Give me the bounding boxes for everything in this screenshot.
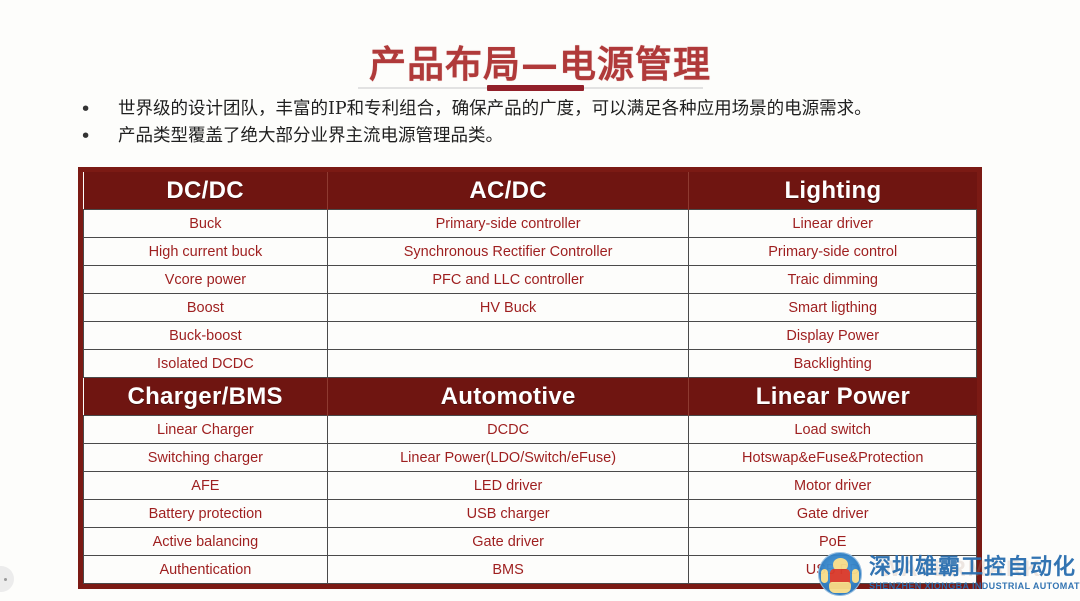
cell: HV Buck (327, 294, 689, 322)
table-row: AFE LED driver Motor driver (84, 472, 977, 500)
watermark-company-cn: 深圳雄霸工控自动化 (869, 557, 1080, 579)
bullet-text: 产品类型覆盖了绝大部分业界主流电源管理品类。 (118, 123, 503, 150)
watermark-company-en: SHENZHEN XIONGBA INDUSTRIAL AUTOMATION (869, 582, 1080, 591)
column-header-acdc: AC/DC (327, 172, 689, 210)
cell: Hotswap&eFuse&Protection (689, 444, 977, 472)
cell: Vcore power (84, 266, 328, 294)
company-mascot-logo-icon (818, 552, 862, 596)
cell: Linear Charger (84, 416, 328, 444)
cell: Isolated DCDC (84, 350, 328, 378)
table-row: Boost HV Buck Smart ligthing (84, 294, 977, 322)
cell: AFE (84, 472, 328, 500)
column-header-lighting: Lighting (689, 172, 977, 210)
cell: Traic dimming (689, 266, 977, 294)
cell: Battery protection (84, 500, 328, 528)
matrix-header-section-1: DC/DC AC/DC Lighting (84, 172, 977, 210)
decorative-corner-dot-icon (0, 566, 14, 592)
cell: Backlighting (689, 350, 977, 378)
table-row: Vcore power PFC and LLC controller Traic… (84, 266, 977, 294)
table-header-row: DC/DC AC/DC Lighting (84, 172, 977, 210)
table-row: Linear Charger DCDC Load switch (84, 416, 977, 444)
table-header-row: Charger/BMS Automotive Linear Power (84, 378, 977, 416)
list-item: • 世界级的设计团队，丰富的IP和专利组合，确保产品的广度，可以满足各种应用场景… (70, 96, 1060, 123)
cell: PFC and LLC controller (327, 266, 689, 294)
product-matrix-table: DC/DC AC/DC Lighting Buck Primary-side c… (78, 167, 982, 589)
cell: Buck-boost (84, 322, 328, 350)
cell: Boost (84, 294, 328, 322)
table-row: High current buck Synchronous Rectifier … (84, 238, 977, 266)
cell-empty (327, 350, 689, 378)
matrix-body-section-1: Buck Primary-side controller Linear driv… (84, 210, 977, 378)
cell: LED driver (327, 472, 689, 500)
bullet-list: • 世界级的设计团队，丰富的IP和专利组合，确保产品的广度，可以满足各种应用场景… (70, 96, 1060, 150)
bullet-text: 世界级的设计团队，丰富的IP和专利组合，确保产品的广度，可以满足各种应用场景的电… (118, 96, 872, 123)
cell: Primary-side control (689, 238, 977, 266)
cell: DCDC (327, 416, 689, 444)
cell: High current buck (84, 238, 328, 266)
cell-empty (327, 322, 689, 350)
table-row: Battery protection USB charger Gate driv… (84, 500, 977, 528)
column-header-linear-power: Linear Power (689, 378, 977, 416)
table-row: Buck-boost Display Power (84, 322, 977, 350)
cell: BMS (327, 556, 689, 584)
page-title: 产品布局—电源管理 (0, 34, 1080, 88)
cell: Motor driver (689, 472, 977, 500)
cell: Synchronous Rectifier Controller (327, 238, 689, 266)
table-row: Switching charger Linear Power(LDO/Switc… (84, 444, 977, 472)
watermark-text: 深圳雄霸工控自动化 SHENZHEN XIONGBA INDUSTRIAL AU… (869, 557, 1080, 591)
column-header-automotive: Automotive (327, 378, 689, 416)
slide-canvas: 产品布局—电源管理 • 世界级的设计团队，丰富的IP和专利组合，确保产品的广度，… (0, 0, 1080, 601)
cell: Switching charger (84, 444, 328, 472)
cell: Display Power (689, 322, 977, 350)
cell: Linear driver (689, 210, 977, 238)
cell: Buck (84, 210, 328, 238)
column-header-charger-bms: Charger/BMS (84, 378, 328, 416)
title-rule-accent (487, 85, 584, 91)
matrix-header-section-2: Charger/BMS Automotive Linear Power (84, 378, 977, 416)
cell: Load switch (689, 416, 977, 444)
cell: Primary-side controller (327, 210, 689, 238)
watermark: 深圳雄霸工控自动化 SHENZHEN XIONGBA INDUSTRIAL AU… (818, 552, 1080, 596)
cell: Gate driver (689, 500, 977, 528)
matrix-grid: DC/DC AC/DC Lighting Buck Primary-side c… (83, 172, 977, 584)
table-row: Isolated DCDC Backlighting (84, 350, 977, 378)
cell: Gate driver (327, 528, 689, 556)
table-row: Buck Primary-side controller Linear driv… (84, 210, 977, 238)
column-header-dcdc: DC/DC (84, 172, 328, 210)
bullet-marker-icon: • (70, 123, 118, 150)
cell: Authentication (84, 556, 328, 584)
bullet-marker-icon: • (70, 96, 118, 123)
cell: Linear Power(LDO/Switch/eFuse) (327, 444, 689, 472)
cell: Active balancing (84, 528, 328, 556)
list-item: • 产品类型覆盖了绝大部分业界主流电源管理品类。 (70, 123, 1060, 150)
cell: Smart ligthing (689, 294, 977, 322)
cell: USB charger (327, 500, 689, 528)
